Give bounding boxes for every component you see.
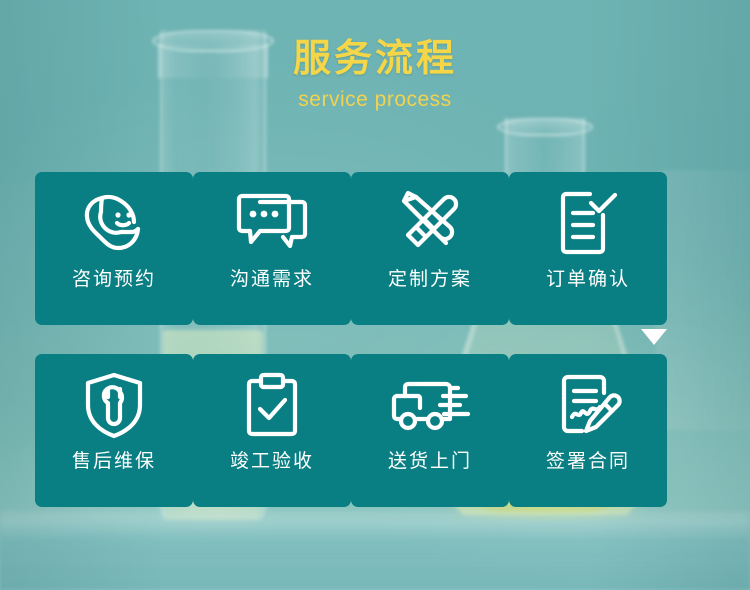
- step-label: 售后维保: [72, 452, 156, 471]
- shield-wrench-icon: [35, 354, 193, 450]
- page-subtitle: service process: [0, 88, 750, 112]
- step-label: 签署合同: [546, 452, 630, 471]
- process-row-2: 售后维保 竣工验收: [35, 354, 723, 507]
- page-header: 服务流程 service process: [0, 38, 750, 112]
- step-card-acceptance[interactable]: 竣工验收: [193, 354, 351, 507]
- step-card-sign-contract[interactable]: 签署合同: [509, 354, 667, 507]
- service-process-grid: 咨询预约 沟通需求: [35, 172, 723, 507]
- step-card-delivery[interactable]: 送货上门: [351, 354, 509, 507]
- page-title: 服务流程: [0, 38, 750, 82]
- step-card-after-sales[interactable]: 售后维保: [35, 354, 193, 507]
- step-label: 咨询预约: [72, 270, 156, 289]
- clipboard-check-icon: [193, 354, 351, 450]
- phone-smiley-icon: [35, 172, 193, 268]
- document-check-icon: [509, 172, 667, 268]
- delivery-truck-icon: [351, 354, 509, 450]
- step-label: 定制方案: [388, 270, 472, 289]
- step-card-communication[interactable]: 沟通需求: [193, 172, 351, 325]
- step-label: 沟通需求: [230, 270, 314, 289]
- step-label: 订单确认: [546, 270, 630, 289]
- chat-bubbles-icon: [193, 172, 351, 268]
- step-card-consultation[interactable]: 咨询预约: [35, 172, 193, 325]
- step-label: 竣工验收: [230, 452, 314, 471]
- process-row-1: 咨询预约 沟通需求: [35, 172, 723, 325]
- arrow-down-wrap: [641, 329, 667, 347]
- contract-sign-icon: [509, 354, 667, 450]
- step-card-custom-plan[interactable]: 定制方案: [351, 172, 509, 325]
- pencil-ruler-icon: [351, 172, 509, 268]
- triangle-down-icon: [641, 329, 667, 345]
- step-label: 送货上门: [388, 452, 472, 471]
- step-card-order-confirm[interactable]: 订单确认: [509, 172, 667, 325]
